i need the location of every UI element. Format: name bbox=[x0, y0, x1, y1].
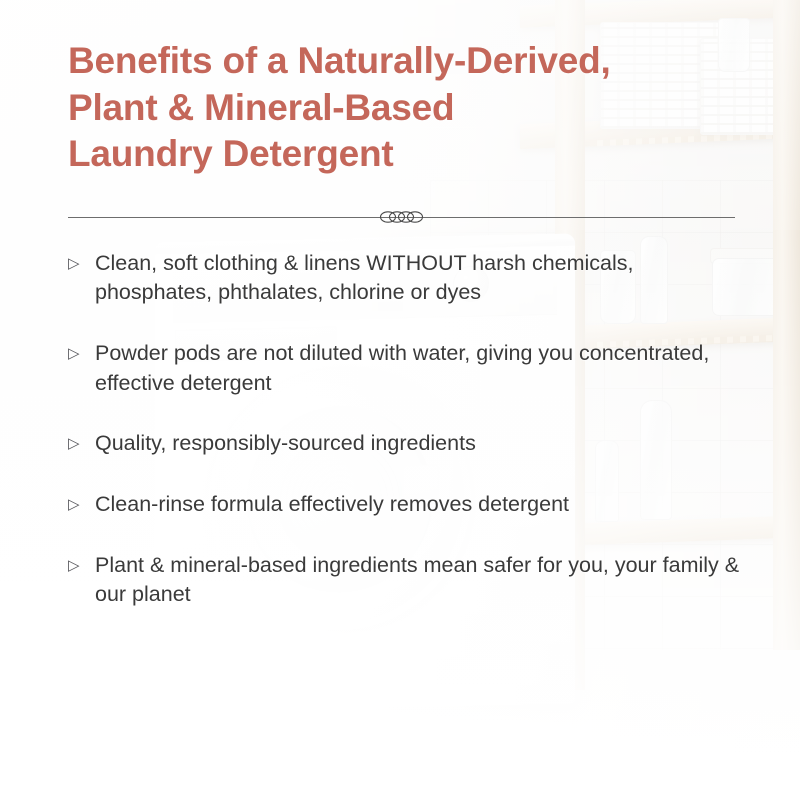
title-line-1: Benefits of a Naturally-Derived, bbox=[68, 38, 740, 85]
triangle-bullet-icon: ▷ bbox=[68, 250, 80, 279]
page-title: Benefits of a Naturally-Derived, Plant &… bbox=[68, 38, 740, 178]
list-item-text: Clean, soft clothing & linens WITHOUT ha… bbox=[95, 249, 740, 308]
triangle-bullet-icon: ▷ bbox=[68, 491, 80, 520]
section-divider bbox=[68, 208, 735, 226]
triangle-bullet-icon: ▷ bbox=[68, 552, 80, 581]
list-item: ▷ Clean, soft clothing & linens WITHOUT … bbox=[68, 249, 740, 308]
list-item-text: Plant & mineral-based ingredients mean s… bbox=[95, 551, 740, 610]
title-line-2: Plant & Mineral-Based bbox=[68, 85, 740, 132]
triangle-bullet-icon: ▷ bbox=[68, 430, 80, 459]
braided-knot-ornament bbox=[379, 208, 425, 226]
list-item: ▷ Quality, responsibly-sourced ingredien… bbox=[68, 429, 740, 459]
benefits-list: ▷ Clean, soft clothing & linens WITHOUT … bbox=[68, 249, 740, 610]
list-item: ▷ Plant & mineral-based ingredients mean… bbox=[68, 551, 740, 610]
poster-content: Benefits of a Naturally-Derived, Plant &… bbox=[0, 0, 800, 800]
triangle-bullet-icon: ▷ bbox=[68, 340, 80, 369]
list-item: ▷ Powder pods are not diluted with water… bbox=[68, 339, 740, 398]
benefits-poster: Benefits of a Naturally-Derived, Plant &… bbox=[0, 0, 800, 800]
list-item: ▷ Clean-rinse formula effectively remove… bbox=[68, 490, 740, 520]
list-item-text: Clean-rinse formula effectively removes … bbox=[95, 490, 740, 520]
list-item-text: Quality, responsibly-sourced ingredients bbox=[95, 429, 740, 459]
list-item-text: Powder pods are not diluted with water, … bbox=[95, 339, 740, 398]
title-line-3: Laundry Detergent bbox=[68, 131, 740, 178]
